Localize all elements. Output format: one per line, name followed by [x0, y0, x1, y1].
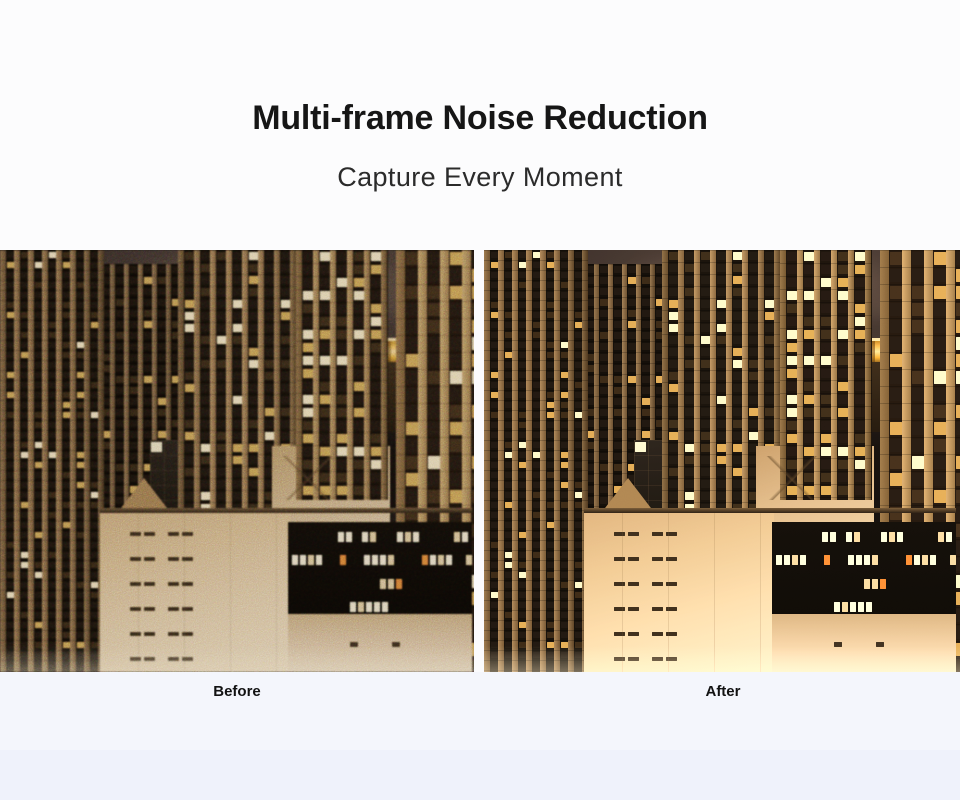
window [733, 372, 742, 380]
window [669, 456, 678, 464]
floor-line [178, 262, 298, 263]
window [890, 354, 902, 367]
window [956, 558, 960, 571]
window-bay [504, 250, 512, 672]
window [669, 444, 678, 452]
window [547, 492, 554, 498]
lit-window [950, 555, 956, 565]
window [144, 299, 152, 306]
window [337, 304, 347, 313]
window [35, 362, 42, 368]
window [547, 442, 554, 448]
window [505, 452, 512, 458]
window [7, 592, 14, 598]
window [428, 439, 440, 452]
window [669, 348, 678, 356]
window [749, 312, 758, 320]
window [450, 405, 462, 418]
window [669, 480, 678, 488]
window [144, 582, 155, 586]
window [533, 372, 540, 378]
window [233, 408, 242, 416]
window [533, 572, 540, 578]
window [561, 572, 568, 578]
window [717, 396, 726, 404]
window [144, 365, 152, 372]
window [561, 362, 568, 368]
window [158, 409, 166, 416]
window [749, 324, 758, 332]
window [519, 592, 526, 598]
window [77, 572, 84, 578]
window [130, 299, 138, 306]
window [547, 282, 554, 288]
floor-line [96, 286, 186, 287]
window [934, 439, 946, 452]
window [749, 432, 758, 440]
window [7, 392, 14, 398]
window [303, 395, 313, 404]
window [561, 322, 568, 328]
lit-window [881, 532, 887, 542]
window [7, 622, 14, 628]
window [144, 376, 152, 383]
lit-window [300, 555, 306, 565]
window [547, 512, 554, 518]
window [158, 398, 166, 405]
window [91, 632, 98, 638]
window [185, 288, 194, 296]
window [749, 300, 758, 308]
facade-pier [865, 250, 871, 500]
window [635, 442, 646, 452]
window [956, 371, 960, 384]
facade-pier [210, 250, 216, 550]
window [281, 420, 290, 428]
window [733, 456, 742, 464]
window [838, 343, 848, 352]
window [406, 286, 418, 299]
window [7, 412, 14, 418]
window [406, 337, 418, 350]
facade-pier [178, 250, 184, 550]
window [185, 396, 194, 404]
floor-line [0, 630, 104, 631]
window [575, 612, 582, 618]
window [519, 602, 526, 608]
window [49, 452, 56, 458]
window [63, 502, 70, 508]
window [116, 387, 124, 394]
window [561, 502, 568, 508]
window [388, 434, 389, 443]
window [787, 265, 797, 274]
window [685, 252, 694, 260]
window [575, 322, 582, 328]
lit-window [362, 532, 368, 542]
window [717, 252, 726, 260]
window [303, 369, 313, 378]
window [388, 252, 389, 261]
window [91, 342, 98, 348]
window [765, 264, 774, 272]
window [547, 432, 554, 438]
window [337, 278, 347, 287]
window [628, 343, 636, 350]
window [354, 382, 364, 391]
window [547, 352, 554, 358]
window [519, 252, 526, 258]
window [765, 396, 774, 404]
window [505, 352, 512, 358]
window [130, 354, 138, 361]
window [354, 395, 364, 404]
window [934, 320, 946, 333]
window [804, 408, 814, 417]
window [890, 252, 902, 265]
window [320, 343, 330, 352]
floor-line [662, 418, 782, 419]
window [533, 552, 540, 558]
window [201, 456, 210, 464]
window [838, 434, 848, 443]
window [63, 292, 70, 298]
facade-pier [364, 250, 370, 500]
window [934, 388, 946, 401]
window [130, 442, 138, 449]
window [77, 302, 84, 308]
window [519, 462, 526, 468]
window [233, 468, 242, 476]
floor-line [780, 354, 872, 355]
window [63, 632, 70, 638]
window [249, 396, 258, 404]
window [533, 272, 540, 278]
floor-line [296, 393, 388, 394]
window [669, 252, 678, 260]
window [7, 602, 14, 608]
window [491, 622, 498, 628]
window [144, 632, 155, 636]
window [575, 542, 582, 548]
floor-line [780, 419, 872, 420]
window [855, 265, 865, 274]
window [642, 299, 650, 306]
floor-line [662, 250, 782, 251]
window [217, 468, 226, 476]
window [505, 292, 512, 298]
window [144, 398, 152, 405]
window [21, 432, 28, 438]
window [701, 456, 710, 464]
window [450, 320, 462, 333]
window [872, 356, 873, 365]
floor-line [484, 340, 588, 341]
window [185, 252, 194, 260]
window [872, 408, 873, 417]
window [371, 278, 381, 287]
floor-line [484, 300, 588, 301]
window [77, 252, 84, 258]
window [21, 482, 28, 488]
floor-line [580, 418, 670, 419]
window [575, 332, 582, 338]
window [371, 252, 381, 261]
window [804, 343, 814, 352]
window [561, 582, 568, 588]
window-bay [20, 250, 28, 672]
window [265, 384, 274, 392]
window [7, 312, 14, 318]
window [91, 422, 98, 428]
window [652, 632, 663, 636]
window [669, 396, 678, 404]
floor-line [484, 380, 588, 381]
window [233, 360, 242, 368]
window [144, 607, 155, 611]
lit-window [466, 555, 472, 565]
floor-line [0, 520, 104, 521]
window [217, 324, 226, 332]
window [371, 369, 381, 378]
window [388, 408, 389, 417]
floor-line [484, 640, 588, 641]
window [21, 452, 28, 458]
window [233, 324, 242, 332]
window [533, 462, 540, 468]
window [533, 422, 540, 428]
window [765, 384, 774, 392]
window [642, 420, 650, 427]
window [491, 342, 498, 348]
floor-line [484, 520, 588, 521]
window [320, 447, 330, 456]
window [450, 269, 462, 282]
floor-line [662, 310, 782, 311]
window [35, 482, 42, 488]
window [491, 512, 498, 518]
window [371, 486, 381, 495]
lit-window [864, 579, 870, 589]
window [21, 312, 28, 318]
window [717, 312, 726, 320]
window [371, 395, 381, 404]
window [855, 317, 865, 326]
window [575, 512, 582, 518]
window [233, 456, 242, 464]
window [872, 460, 873, 469]
window [388, 317, 389, 326]
window [838, 265, 848, 274]
window [547, 312, 554, 318]
window [77, 402, 84, 408]
window [533, 412, 540, 418]
floor-line [396, 403, 474, 404]
floor-line [0, 530, 104, 531]
window [35, 302, 42, 308]
window [669, 432, 678, 440]
window [749, 372, 758, 380]
window [77, 622, 84, 628]
window [91, 252, 98, 258]
floor-line [0, 480, 104, 481]
window [249, 360, 258, 368]
window [116, 453, 124, 460]
facade-pier [554, 250, 560, 672]
window [371, 447, 381, 456]
window [201, 348, 210, 356]
window [7, 542, 14, 548]
window [91, 332, 98, 338]
lit-window [413, 532, 419, 542]
floor-line [396, 250, 474, 251]
window [7, 302, 14, 308]
window [505, 632, 512, 638]
window [217, 264, 226, 272]
window [337, 382, 347, 391]
floor-line [96, 363, 186, 364]
window [320, 304, 330, 313]
lit-window [454, 532, 460, 542]
window [519, 392, 526, 398]
window [787, 252, 797, 261]
window [804, 278, 814, 287]
window [628, 607, 639, 611]
window [505, 342, 512, 348]
window [575, 422, 582, 428]
window [956, 269, 960, 282]
window [406, 490, 418, 503]
window [685, 384, 694, 392]
window [956, 422, 960, 435]
floor-line [484, 510, 588, 511]
window [600, 332, 608, 339]
facade-pier [70, 250, 76, 672]
floor-line [780, 276, 872, 277]
floor-line [0, 450, 104, 451]
window [547, 592, 554, 598]
window [91, 402, 98, 408]
window-bay [216, 250, 226, 550]
window [628, 387, 636, 394]
window [642, 343, 650, 350]
window [77, 272, 84, 278]
window [91, 472, 98, 478]
window [614, 387, 622, 394]
window [144, 420, 152, 427]
window [168, 607, 179, 611]
window [63, 372, 70, 378]
window [217, 252, 226, 260]
window [519, 532, 526, 538]
window [320, 330, 330, 339]
window [491, 352, 498, 358]
floor-line [178, 286, 298, 287]
floor-line [880, 352, 960, 353]
window-bay [732, 250, 742, 550]
window [7, 422, 14, 428]
window [519, 512, 526, 518]
window [354, 330, 364, 339]
floor-line [484, 250, 588, 251]
window [547, 562, 554, 568]
window [233, 288, 242, 296]
window [685, 444, 694, 452]
window [63, 612, 70, 618]
window [371, 473, 381, 482]
before-cityscape-scene [0, 250, 474, 672]
window [533, 312, 540, 318]
window [21, 562, 28, 568]
window [21, 342, 28, 348]
floor-line [0, 430, 104, 431]
window [600, 431, 608, 438]
floor-line [880, 335, 960, 336]
window [685, 336, 694, 344]
window [388, 486, 389, 495]
window [956, 337, 960, 350]
window [685, 360, 694, 368]
window [91, 302, 98, 308]
window [547, 382, 554, 388]
lit-window [842, 602, 848, 612]
window [201, 432, 210, 440]
window [63, 462, 70, 468]
window [491, 302, 498, 308]
window [561, 252, 568, 258]
window [749, 276, 758, 284]
window [249, 252, 258, 260]
window [934, 337, 946, 350]
window [77, 492, 84, 498]
tower [484, 250, 588, 672]
window [320, 356, 330, 365]
window [533, 542, 540, 548]
floor-line [580, 330, 670, 331]
lit-window [880, 579, 886, 589]
window [733, 288, 742, 296]
window [614, 376, 622, 383]
window [35, 342, 42, 348]
window [21, 362, 28, 368]
window [547, 582, 554, 588]
window [450, 303, 462, 316]
window [130, 607, 141, 611]
window [838, 382, 848, 391]
window [533, 342, 540, 348]
floor-line [396, 386, 474, 387]
window [855, 304, 865, 313]
window [600, 288, 608, 295]
window [63, 472, 70, 478]
window [804, 369, 814, 378]
window [303, 408, 313, 417]
window [855, 252, 865, 261]
window [491, 452, 498, 458]
window [35, 452, 42, 458]
window [575, 472, 582, 478]
window [303, 382, 313, 391]
lit-window [438, 555, 444, 565]
window [144, 288, 152, 295]
window [533, 492, 540, 498]
window [561, 422, 568, 428]
window [130, 557, 141, 561]
window [7, 532, 14, 538]
window [600, 321, 608, 328]
floor-line [484, 260, 588, 261]
window [575, 622, 582, 628]
